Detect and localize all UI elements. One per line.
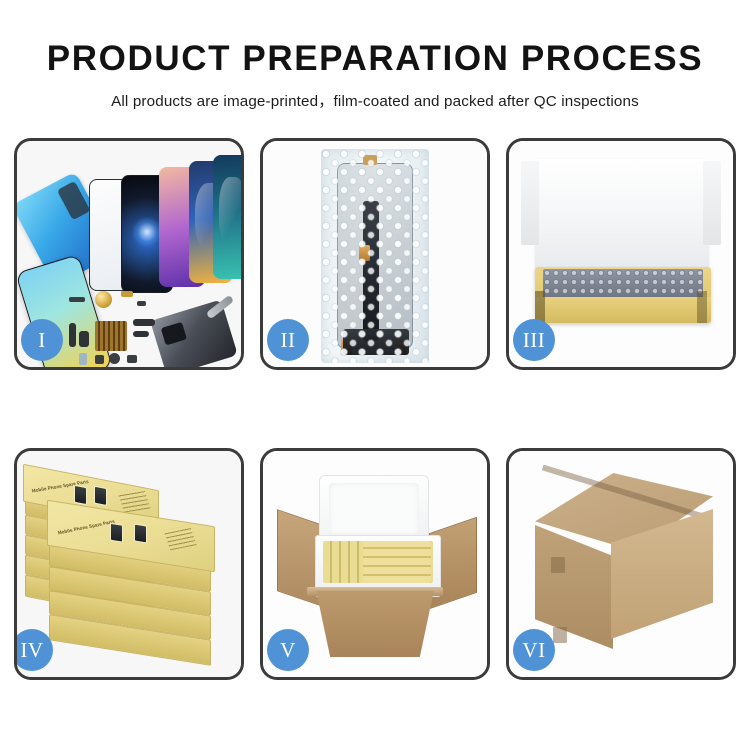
process-step-panel-5[interactable]: V (260, 448, 490, 680)
flex-cable-3 (133, 319, 155, 326)
page-subtitle: All products are image-printed，film-coat… (0, 89, 750, 111)
part-chip-5 (109, 353, 120, 364)
bubble-texture (321, 149, 429, 363)
step-badge-1: I (21, 319, 63, 361)
foam-lid-icon (535, 159, 709, 277)
part-chip-1 (69, 297, 85, 302)
carton-tab-lower (553, 627, 567, 643)
carton-tab-upper (551, 557, 565, 573)
tray-edge-right (697, 291, 707, 323)
flex-cable-2 (79, 331, 89, 347)
yellow-boxes-group-2 (363, 541, 431, 583)
chip-array-icon (95, 321, 127, 351)
flex-cable-4 (133, 331, 149, 337)
lid-flap-right (703, 161, 721, 245)
box-text-lines-front (163, 525, 196, 550)
process-step-grid: I II III (14, 138, 736, 680)
box-phone-image-1 (74, 485, 87, 506)
box-phone-image-2 (94, 486, 107, 507)
part-chip-3 (137, 301, 146, 306)
step-badge-5: V (267, 629, 309, 671)
foam-lid-inner (329, 483, 419, 535)
box-label-front: Mobile Phone Spare Parts (57, 519, 115, 536)
box-phone-image-4 (134, 523, 147, 543)
carton-front-panel (305, 591, 445, 657)
kraft-tray-front (535, 297, 711, 323)
step-badge-6: VI (513, 629, 555, 671)
phone-housing-icon (150, 299, 238, 370)
step-badge-2: II (267, 319, 309, 361)
flex-cable-1 (69, 323, 76, 347)
part-chip-4 (95, 355, 104, 364)
process-step-panel-1[interactable]: I (14, 138, 244, 370)
lid-flap-left (521, 161, 539, 245)
box-text-lines-rear (117, 488, 150, 513)
process-step-panel-4[interactable]: Mobile Phone Spare Parts Mobile Phone Sp… (14, 448, 244, 680)
bubble-wrap-bag-icon (321, 149, 429, 363)
page-header: PRODUCT PREPARATION PROCESS All products… (0, 0, 750, 111)
part-chip-6 (127, 355, 137, 363)
process-step-panel-6[interactable]: VI (506, 448, 736, 680)
step-badge-3: III (513, 319, 555, 361)
process-step-panel-2[interactable]: II (260, 138, 490, 370)
page-title: PRODUCT PREPARATION PROCESS (0, 38, 750, 80)
process-step-panel-3[interactable]: III (506, 138, 736, 370)
bubble-wrap-contents (543, 269, 703, 299)
part-chip-2 (121, 291, 133, 297)
carton-left-face (535, 525, 613, 649)
box-phone-image-3 (110, 523, 123, 543)
gold-component-icon (95, 291, 112, 308)
part-chip-7 (79, 353, 87, 365)
teal-phone-icon (213, 155, 244, 279)
